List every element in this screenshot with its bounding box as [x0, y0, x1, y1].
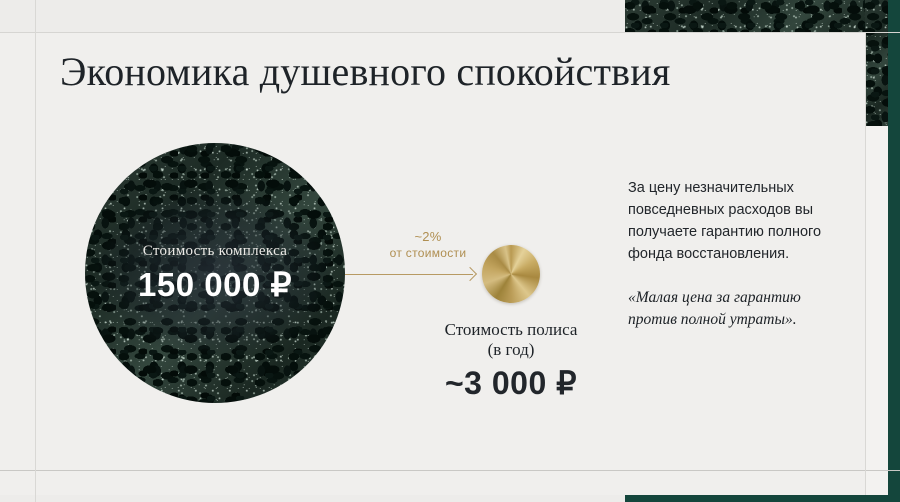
arrow-percent-label: ~2% — [368, 229, 488, 244]
cost-circle-value: 150 000 ₽ — [138, 265, 292, 304]
page-title: Экономика душевного спокойствия — [60, 48, 670, 95]
right-body-text: За цену незначительных повседневных расх… — [628, 177, 833, 265]
granite-strip-right — [865, 0, 888, 126]
cost-circle-label: Стоимость комплекса — [143, 243, 287, 260]
teal-band-right — [886, 0, 900, 502]
arrow-head — [463, 267, 477, 281]
guide-line-horizontal-bottom — [0, 470, 900, 471]
guide-line-vertical-right — [865, 32, 866, 495]
policy-label-line1: Стоимость полиса — [445, 320, 578, 339]
right-text-column: За цену незначительных повседневных расх… — [628, 177, 833, 331]
guide-line-vertical-left — [35, 0, 36, 502]
policy-value: ~3 000 ₽ — [411, 364, 611, 402]
arrow-right-icon — [345, 268, 485, 282]
guide-line-horizontal-top — [0, 32, 900, 33]
cost-circle-labels: Стоимость комплекса 150 000 ₽ — [85, 143, 345, 403]
cost-circle: Стоимость комплекса 150 000 ₽ — [85, 143, 345, 403]
policy-label-line2: (в год) — [488, 340, 535, 359]
right-quote-text: «Малая цена за гарантию против полной ут… — [628, 287, 833, 331]
slide-canvas: Экономика душевного спокойствия Стоимост… — [0, 0, 900, 502]
arrow-shaft — [345, 274, 473, 275]
arrow-caption-label: от стоимости — [358, 246, 498, 260]
content-card-right-sliver — [866, 126, 888, 495]
policy-circle — [482, 245, 540, 303]
policy-label: Стоимость полиса (в год) — [411, 320, 611, 359]
